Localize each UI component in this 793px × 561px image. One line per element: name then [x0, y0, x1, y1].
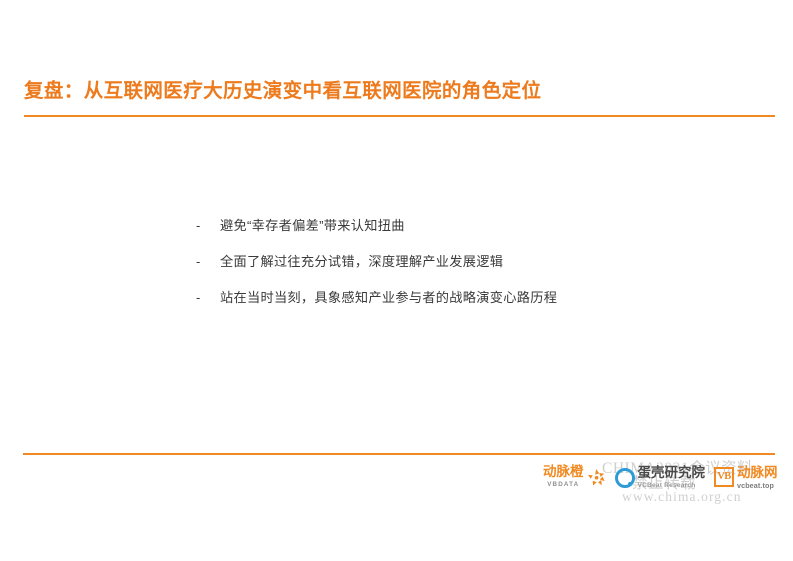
bullet-marker-icon: -: [196, 252, 220, 272]
bullet-text: 避免“幸存者偏差”带来认知扭曲: [220, 216, 405, 236]
bullet-text: 站在当时当刻，具象感知产业参与者的战略演变心路历程: [220, 288, 557, 308]
blue-circle-icon: [615, 468, 634, 487]
vbtop-label-en: vcbeat.top: [737, 481, 778, 490]
vb-badge-icon: VB: [714, 467, 734, 487]
page-title: 复盘：从互联网医疗大历史演变中看互联网医院的角色定位: [24, 78, 776, 104]
logo-vbdata: 动脉橙 VBDATA: [543, 462, 606, 492]
list-item: - 避免“幸存者偏差”带来认知扭曲: [196, 216, 716, 252]
vbdata-label-cn: 动脉橙: [543, 465, 584, 479]
vcbeat-label-en: VCBeat Research: [638, 481, 706, 490]
orange-flower-icon: [587, 468, 606, 487]
title-block: 复盘：从互联网医疗大历史演变中看互联网医院的角色定位: [24, 78, 776, 104]
vcbeat-label-cn: 蛋壳研究院: [638, 465, 706, 480]
vcbeat-text-block: 蛋壳研究院 VCBeat Research: [638, 465, 706, 490]
title-underline-divider: [24, 115, 775, 117]
vbdata-label-en: VBDATA: [547, 480, 579, 489]
bullet-marker-icon: -: [196, 216, 220, 236]
logo-vcbeat-top: VB 动脉网 vcbeat.top: [714, 462, 778, 492]
bullet-text: 全面了解过往充分试错，深度理解产业发展逻辑: [220, 252, 503, 272]
bullet-marker-icon: -: [196, 288, 220, 308]
vb-badge-label: VB: [717, 472, 731, 482]
footer-logo-group: 动脉橙 VBDATA: [543, 461, 778, 493]
vbtop-label-cn: 动脉网: [737, 465, 778, 480]
vbdata-text-block: 动脉橙 VBDATA: [543, 465, 584, 489]
footer-divider: [23, 453, 775, 455]
logo-vcbeat-research: 蛋壳研究院 VCBeat Research: [615, 462, 706, 492]
slide-canvas: 复盘：从互联网医疗大历史演变中看互联网医院的角色定位 - 避免“幸存者偏差”带来…: [0, 0, 793, 561]
vbtop-text-block: 动脉网 vcbeat.top: [737, 465, 778, 490]
list-item: - 站在当时当刻，具象感知产业参与者的战略演变心路历程: [196, 288, 716, 324]
list-item: - 全面了解过往充分试错，深度理解产业发展逻辑: [196, 252, 716, 288]
bullet-list: - 避免“幸存者偏差”带来认知扭曲 - 全面了解过往充分试错，深度理解产业发展逻…: [196, 216, 716, 324]
